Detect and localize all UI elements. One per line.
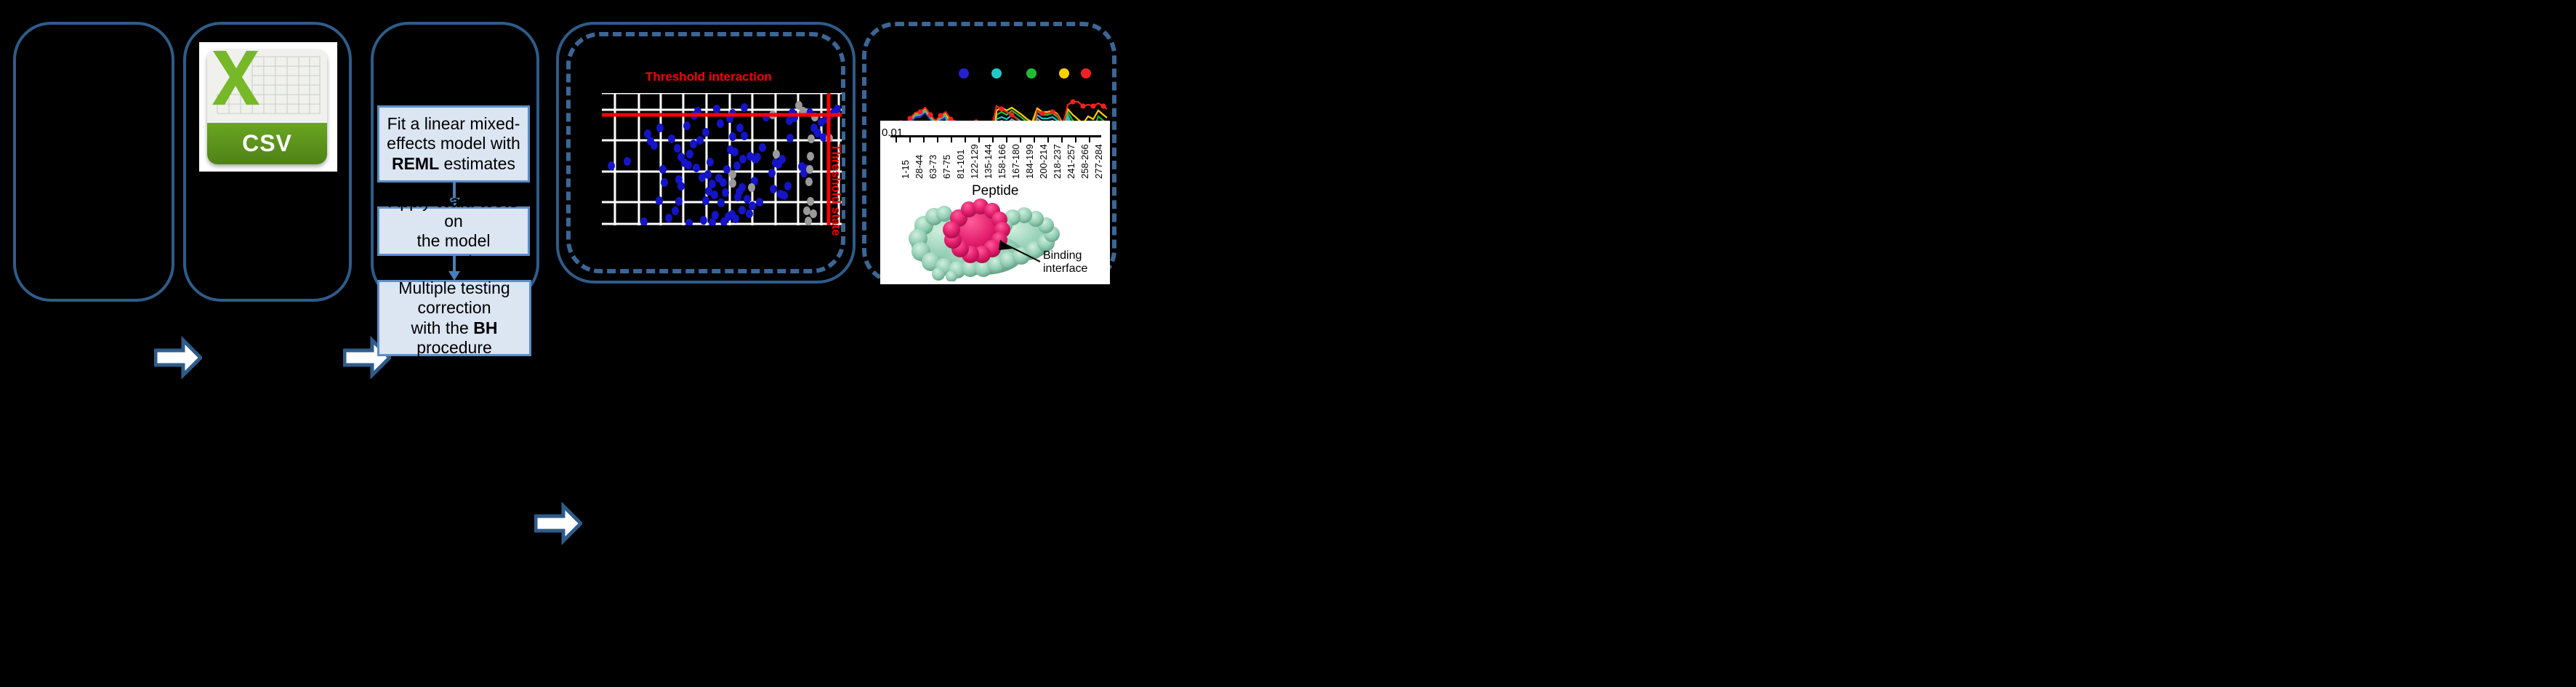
scatter-svg — [602, 93, 842, 225]
peptide-tick-label: 184-199 — [1024, 144, 1035, 179]
legend-dot-red — [1081, 68, 1091, 79]
csv-format-band: CSV — [207, 123, 327, 164]
flow-arrow-3 — [534, 502, 582, 545]
fit-model-line2: effects model with — [387, 134, 520, 153]
legend-dot-green — [1026, 68, 1037, 79]
peptide-tick-label: 122-129 — [969, 144, 980, 179]
x-axis-title: Peptide — [972, 183, 1018, 199]
peptide-tick-label: 63-73 — [927, 155, 938, 179]
mt-line3: with the BH procedure — [379, 318, 529, 358]
peptide-tick-label: 241-257 — [1066, 144, 1076, 179]
peptide-tick-label: 81-101 — [955, 150, 966, 179]
fit-model-line3-rest: estimates — [439, 154, 515, 173]
csv-format-label: CSV — [242, 130, 292, 157]
legend-dot-yellow — [1059, 68, 1069, 79]
binding-line1: Binding — [1043, 249, 1087, 262]
peptide-tick-label: 277-284 — [1093, 144, 1104, 179]
threshold-scatter-plot — [602, 93, 842, 225]
binding-interface-annotation: Binding interface — [1043, 249, 1087, 276]
mt-line2: correction — [379, 298, 529, 318]
wald-line1: Apply Wald tests on — [379, 192, 528, 231]
y-axis-tick-label: 0.01 — [882, 126, 903, 139]
flow-arrow-1 — [154, 336, 202, 379]
peptide-tick-label: 167-180 — [1010, 144, 1021, 179]
fit-model-line1: Fit a linear mixed- — [387, 114, 520, 134]
input-panel — [13, 22, 174, 302]
peptide-tick-label: 1-15 — [900, 160, 911, 179]
flow-connector-2 — [446, 256, 462, 281]
peptide-tick-label: 135-144 — [983, 144, 994, 179]
threshold-state-label: Threshold state — [829, 144, 843, 236]
wald-line1-post: on — [444, 212, 463, 230]
legend-dot-cyan — [991, 68, 1002, 79]
peptide-tick-label: 67-75 — [941, 155, 952, 179]
peptide-tick-label: 218-237 — [1052, 144, 1063, 179]
wald-keyword: Wald tests — [435, 192, 518, 211]
fit-model-line3: REML estimates — [387, 154, 520, 174]
binding-line2: interface — [1043, 262, 1087, 276]
peptide-tick-label: 158-166 — [997, 144, 1007, 179]
peptide-tick-label: 258-266 — [1079, 144, 1090, 179]
csv-file-icon: CSV — [207, 49, 327, 164]
reml-keyword: REML — [392, 154, 439, 173]
legend-dot-blue — [959, 68, 969, 79]
bh-keyword: BH — [473, 318, 497, 337]
threshold-interaction-label: Threshold interaction — [645, 70, 772, 84]
mt-line3-post: procedure — [416, 338, 492, 357]
peptide-tick-label: 28-44 — [914, 155, 925, 179]
csv-spreadsheet-grid — [207, 49, 327, 123]
wald-tests-box: Apply Wald tests on the model parameters — [377, 206, 530, 256]
mt-line3-pre: with the — [411, 318, 474, 337]
results-white-card: 0.01 1-1528-4463-7367-7581-101122-129135… — [880, 121, 1110, 284]
multiple-testing-box: Multiple testing correction with the BH … — [377, 280, 531, 356]
fit-model-box: Fit a linear mixed- effects model with R… — [377, 105, 530, 182]
wald-line1-pre: Apply — [389, 192, 435, 211]
mt-line1: Multiple testing — [379, 278, 529, 298]
peptide-tick-label: 200-214 — [1038, 144, 1049, 179]
